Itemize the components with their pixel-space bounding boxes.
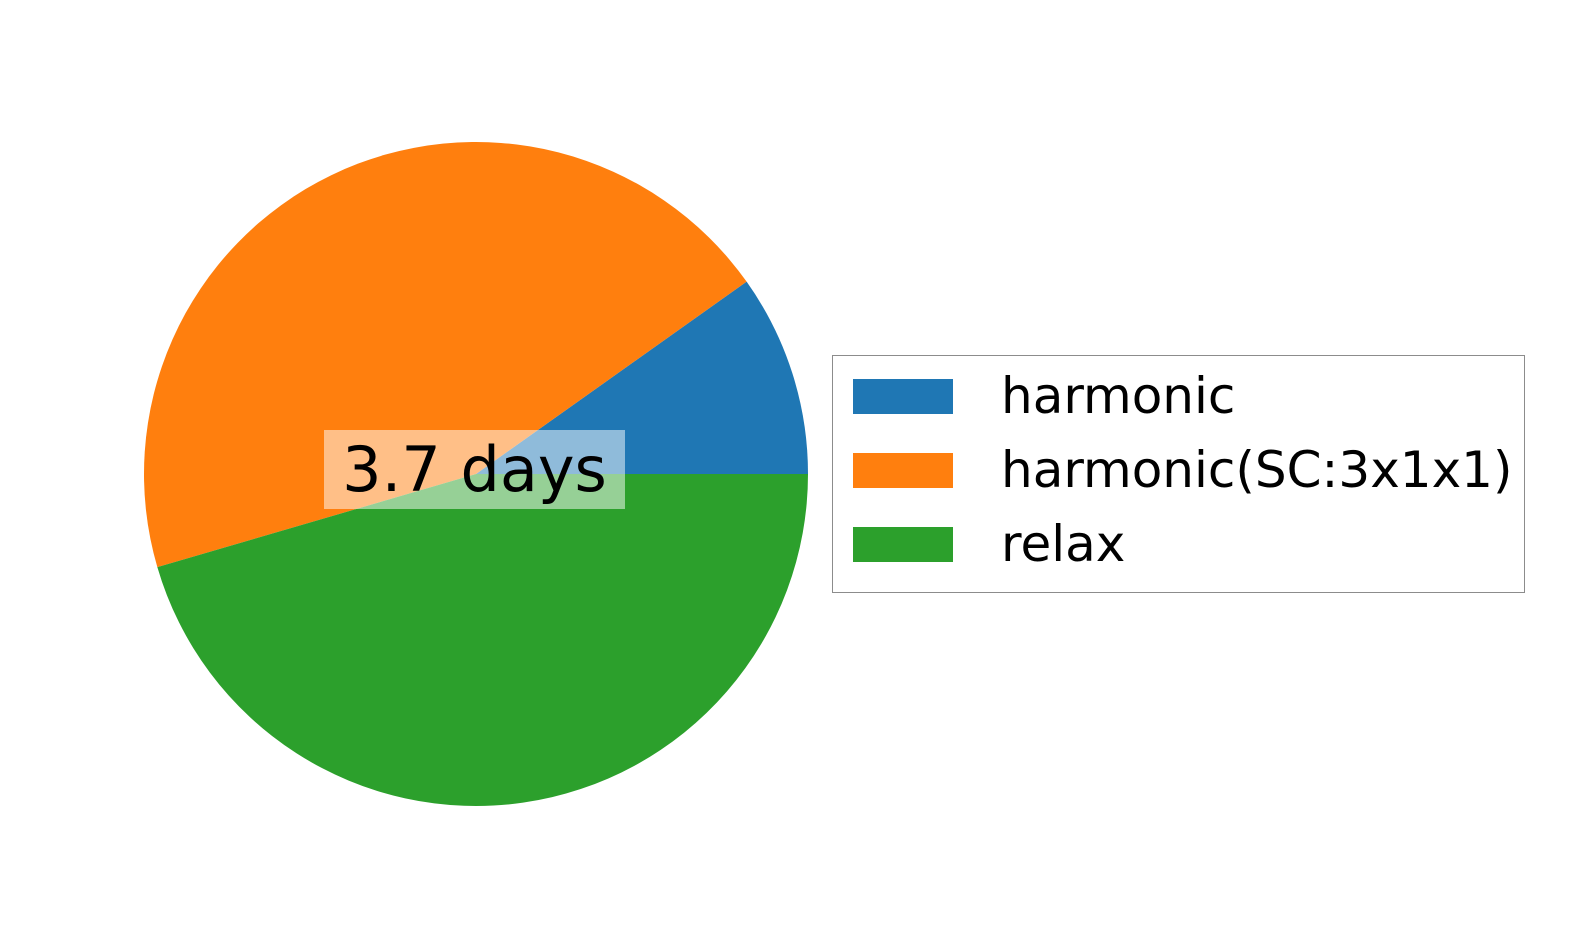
pie-center-label-text: 3.7 days [342, 439, 607, 501]
legend-label-relax: relax [1001, 519, 1125, 569]
chart-legend: harmonic harmonic(SC:3x1x1) relax [832, 355, 1525, 593]
legend-swatch-harmonic-sc [853, 453, 953, 488]
legend-label-harmonic-sc: harmonic(SC:3x1x1) [1001, 445, 1513, 495]
legend-label-harmonic: harmonic [1001, 371, 1235, 421]
legend-swatch-relax [853, 527, 953, 562]
pie-center-label: 3.7 days [324, 430, 625, 509]
figure-canvas: 3.7 days harmonic harmonic(SC:3x1x1) rel… [0, 0, 1584, 951]
legend-item-harmonic-sc[interactable]: harmonic(SC:3x1x1) [853, 452, 1513, 488]
legend-item-harmonic[interactable]: harmonic [853, 378, 1235, 414]
legend-item-relax[interactable]: relax [853, 526, 1125, 562]
legend-swatch-harmonic [853, 379, 953, 414]
